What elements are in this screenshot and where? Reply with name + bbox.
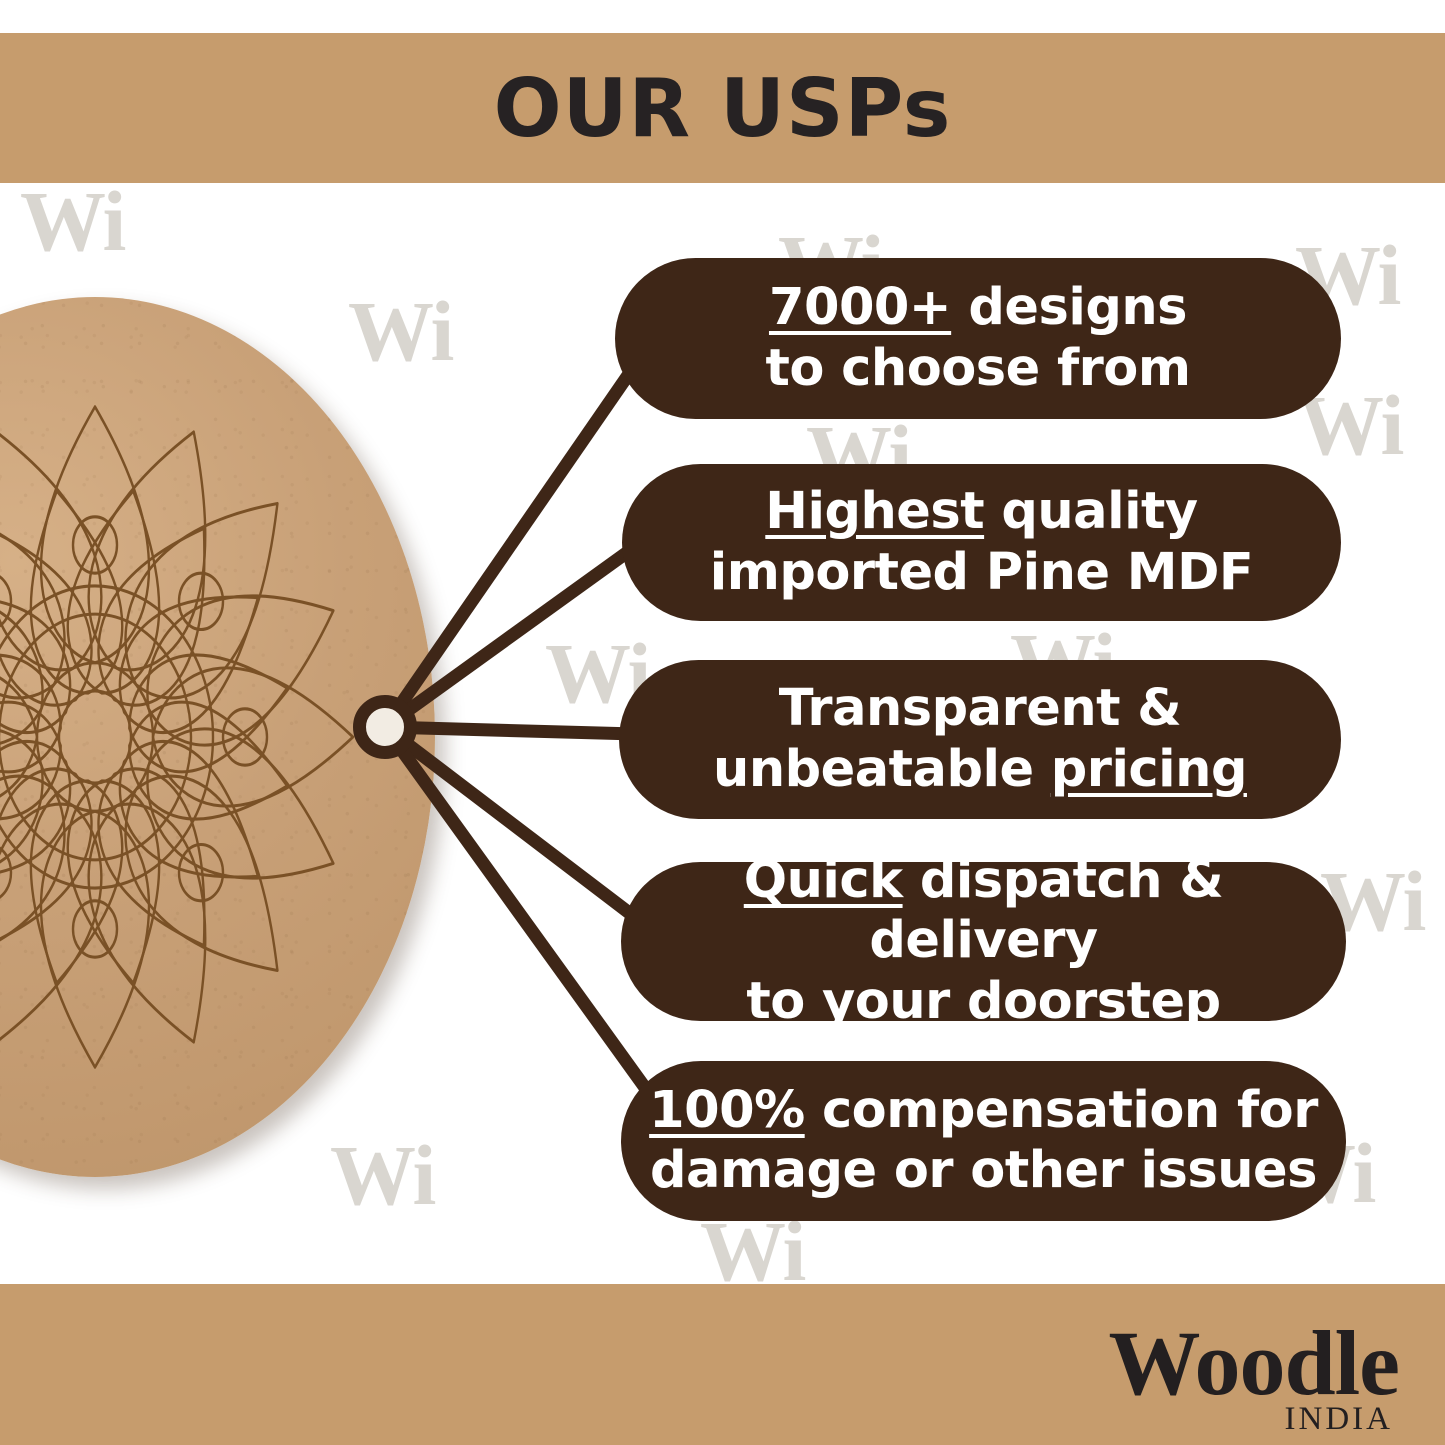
usp-2-line1-rest: quality xyxy=(984,482,1198,541)
usp-pill-compensation-text: 100% compensation for damage or other is… xyxy=(649,1081,1318,1201)
usp-3-line1: Transparent & xyxy=(779,679,1182,738)
usp-1-highlight: 7000+ xyxy=(769,278,951,337)
usp-pill-pricing-text: Transparent & unbeatable pricing xyxy=(713,679,1247,799)
usp-5-highlight: 100% xyxy=(649,1081,805,1140)
usp-4-line1-rest: dispatch & delivery xyxy=(869,851,1223,970)
page-title: OUR USPs xyxy=(0,33,1445,183)
usp-hub-node xyxy=(353,695,417,759)
usp-pill-dispatch-text: Quick dispatch & delivery to your doorst… xyxy=(647,851,1320,1032)
usp-pill-quality[interactable]: Highest quality imported Pine MDF xyxy=(622,464,1341,621)
usp-pill-designs-text: 7000+ designs to choose from xyxy=(765,278,1190,398)
usp-pill-designs[interactable]: 7000+ designs to choose from xyxy=(615,258,1341,419)
usp-1-line2: to choose from xyxy=(765,339,1190,398)
usp-pill-pricing[interactable]: Transparent & unbeatable pricing xyxy=(619,660,1341,819)
usp-pill-compensation[interactable]: 100% compensation for damage or other is… xyxy=(621,1061,1346,1221)
usp-5-line2: damage or other issues xyxy=(650,1141,1317,1200)
usp-2-line2: imported Pine MDF xyxy=(710,543,1254,602)
usp-4-highlight: Quick xyxy=(744,851,903,910)
usp-4-line2: to your doorstep xyxy=(746,972,1220,1031)
usp-3-highlight: pricing xyxy=(1051,740,1247,799)
usp-pill-quality-text: Highest quality imported Pine MDF xyxy=(710,482,1254,602)
usp-5-line1-rest: compensation for xyxy=(805,1081,1318,1140)
usp-1-line1-rest: designs xyxy=(951,278,1187,337)
infographic-canvas: Wi Wi Wi Wi Wi Wi Wi Wi Wi Wi Wi Wi xyxy=(0,0,1445,1445)
usp-2-highlight: Highest xyxy=(765,482,984,541)
brand-logo: Woodle INDIA xyxy=(1109,1317,1399,1436)
usp-3-line2-rest: unbeatable xyxy=(713,740,1051,799)
brand-logo-wordmark: Woodle xyxy=(1109,1317,1399,1409)
usp-pill-dispatch[interactable]: Quick dispatch & delivery to your doorst… xyxy=(621,862,1346,1021)
